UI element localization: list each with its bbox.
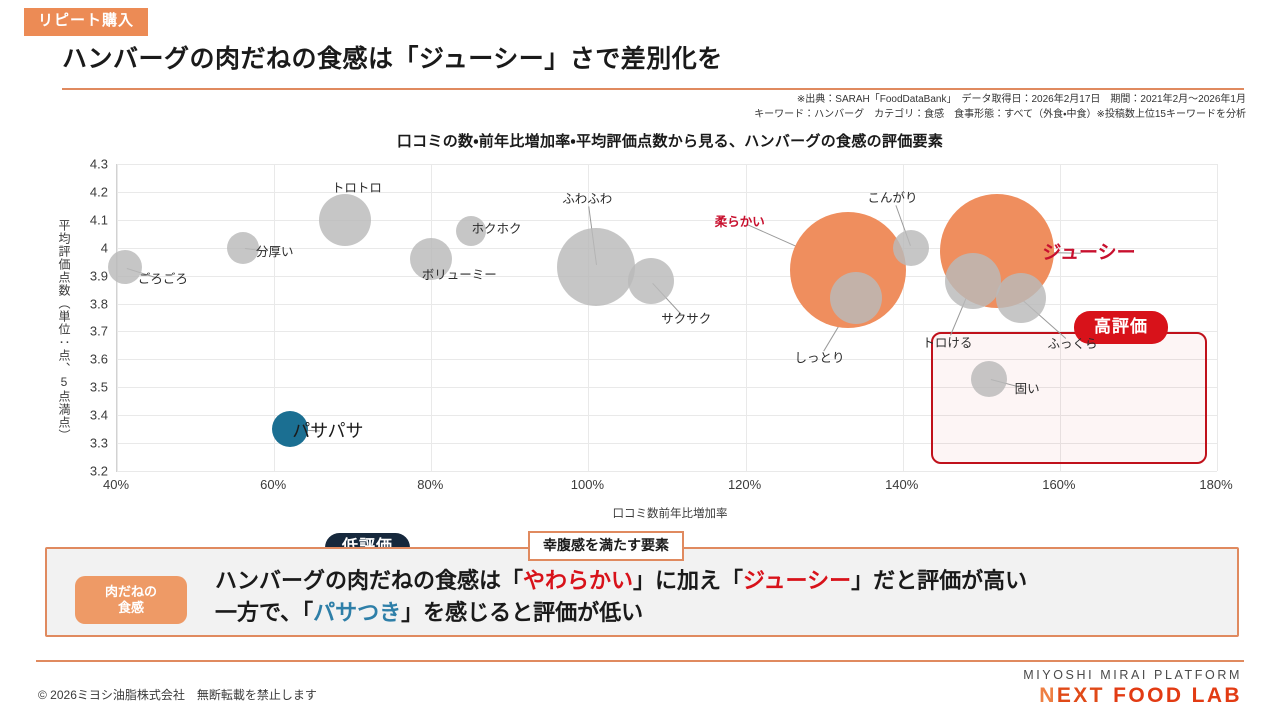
summary-l1-c: 」だと評価が高い bbox=[851, 568, 1027, 593]
bubble-label-ふわふわ: ふわふわ bbox=[562, 193, 612, 206]
bubble-こんがり[interactable] bbox=[893, 230, 929, 266]
logo-tagline: MIYOSHI MIRAI PLATFORM bbox=[1023, 668, 1242, 683]
y-tick-label: 3.9 bbox=[62, 268, 108, 283]
bubble-label-トロける: トロける bbox=[922, 337, 972, 350]
bubble-label-ボリューミー: ボリューミー bbox=[422, 269, 497, 282]
gridline-vertical bbox=[1217, 164, 1218, 471]
summary-l2-a: 一方で、「 bbox=[215, 600, 313, 625]
bubble-label-トロトロ: トロトロ bbox=[332, 182, 382, 195]
gridline-horizontal bbox=[117, 192, 1217, 193]
summary-text: ハンバーグの肉だねの食感は「やわらかい」に加え「ジューシー」だと評価が高い 一方… bbox=[215, 565, 1225, 629]
x-tick-label: 100% bbox=[547, 477, 627, 492]
bubble-サクサク[interactable] bbox=[628, 258, 674, 304]
gridline-vertical bbox=[117, 164, 118, 471]
page-title: ハンバーグの肉だねの食感は「ジューシー」さで差別化を bbox=[62, 44, 1244, 75]
bubble-label-ホクホク: ホクホク bbox=[472, 223, 522, 236]
y-tick-label: 3.5 bbox=[62, 380, 108, 395]
bubble-label-固い: 固い bbox=[1015, 383, 1040, 396]
bubble-分厚い[interactable] bbox=[227, 232, 259, 264]
summary-l2-blue: パサつき bbox=[313, 600, 401, 625]
bubble-トロトロ[interactable] bbox=[319, 194, 371, 246]
y-tick-label: 4.2 bbox=[62, 184, 108, 199]
y-tick-label: 3.8 bbox=[62, 296, 108, 311]
copyright: © 2026ミヨシ油脂株式会社 無断転載を禁止します bbox=[38, 686, 317, 703]
gridline-horizontal bbox=[117, 304, 1217, 305]
bubble-固い[interactable] bbox=[971, 361, 1007, 397]
gridline-vertical bbox=[431, 164, 432, 471]
x-tick-label: 140% bbox=[862, 477, 942, 492]
gridline-horizontal bbox=[117, 220, 1217, 221]
bubble-label-ジューシー: ジューシー bbox=[1042, 243, 1135, 262]
logo-name: NEXT FOOD LAB bbox=[1023, 683, 1242, 708]
logo-n: N bbox=[1039, 684, 1057, 707]
bubble-label-パサパサ: パサパサ bbox=[292, 422, 363, 440]
bubble-label-ごろごろ: ごろごろ bbox=[138, 273, 188, 286]
x-axis-label: 口コミ数前年比増加率 bbox=[0, 505, 1280, 521]
x-tick-label: 120% bbox=[705, 477, 785, 492]
bubble-label-分厚い: 分厚い bbox=[256, 245, 294, 258]
summary-l1-red1: やわらかい bbox=[523, 568, 633, 593]
y-tick-label: 3.6 bbox=[62, 352, 108, 367]
summary-l1-red2: ジューシー bbox=[743, 568, 851, 593]
x-tick-label: 180% bbox=[1176, 477, 1256, 492]
high-rating-box bbox=[931, 332, 1207, 464]
bubble-chart: 平均評価点数（単位：点、5点満点） 4.34.24.143.93.83.73.6… bbox=[0, 155, 1280, 525]
category-tag: リピート購入 bbox=[24, 8, 148, 36]
slide-root: リピート購入 ハンバーグの肉だねの食感は「ジューシー」さで差別化を ※出典：SA… bbox=[0, 0, 1280, 720]
bubble-ふっくら[interactable] bbox=[996, 273, 1046, 323]
bubble-トロける[interactable] bbox=[945, 253, 1001, 309]
summary-line-2: 一方で、「パサつき」を感じると評価が低い bbox=[215, 597, 1225, 629]
summary-l1-a: ハンバーグの肉だねの食感は「 bbox=[215, 568, 523, 593]
y-tick-label: 4.3 bbox=[62, 157, 108, 172]
bubble-label-柔らかい: 柔らかい bbox=[715, 216, 765, 229]
gridline-horizontal bbox=[117, 164, 1217, 165]
logo-food: FOOD LAB bbox=[1113, 684, 1242, 707]
bubble-label-サクサク: サクサク bbox=[661, 313, 711, 326]
bubble-label-ふっくら: ふっくら bbox=[1048, 338, 1098, 351]
bubble-label-しっとり: しっとり bbox=[795, 352, 845, 365]
summary-tab: 幸腹感を満たす要素 bbox=[528, 531, 684, 561]
bubble-ふわふわ[interactable] bbox=[557, 228, 635, 306]
y-tick-label: 4.1 bbox=[62, 212, 108, 227]
page-title-text: ハンバーグの肉だねの食感は「ジューシー」さで差別化を bbox=[62, 44, 1244, 75]
x-tick-label: 40% bbox=[76, 477, 156, 492]
title-divider bbox=[62, 88, 1244, 90]
bubble-しっとり[interactable] bbox=[830, 272, 882, 324]
y-tick-label: 3.4 bbox=[62, 408, 108, 423]
summary-pill: 肉だねの 食感 bbox=[75, 576, 187, 624]
x-tick-label: 80% bbox=[390, 477, 470, 492]
chart-title: 口コミの数・前年比増加率・平均評価点数から見る、ハンバーグの食感の評価要素 bbox=[0, 130, 1280, 151]
footer-divider bbox=[36, 660, 1244, 662]
gridline-horizontal bbox=[117, 471, 1217, 472]
y-tick-label: 3.7 bbox=[62, 324, 108, 339]
y-tick-label: 4 bbox=[62, 240, 108, 255]
x-tick-label: 60% bbox=[233, 477, 313, 492]
y-tick-label: 3.3 bbox=[62, 436, 108, 451]
summary-l1-b: 」に加え「 bbox=[633, 568, 743, 593]
brand-logo: MIYOSHI MIRAI PLATFORM NEXT FOOD LAB bbox=[1023, 668, 1242, 708]
summary-line-1: ハンバーグの肉だねの食感は「やわらかい」に加え「ジューシー」だと評価が高い bbox=[215, 565, 1225, 597]
gridline-vertical bbox=[903, 164, 904, 471]
source-citation: ※出典：SARAH「FoodDataBank」 データ取得日：2026年2月17… bbox=[754, 93, 1246, 122]
bubble-ごろごろ[interactable] bbox=[108, 250, 142, 284]
bubble-label-こんがり: こんがり bbox=[868, 191, 918, 204]
gridline-vertical bbox=[746, 164, 747, 471]
x-tick-label: 160% bbox=[1019, 477, 1099, 492]
logo-ext: EXT bbox=[1057, 684, 1105, 707]
summary-l2-b: 」を感じると評価が低い bbox=[401, 600, 643, 625]
